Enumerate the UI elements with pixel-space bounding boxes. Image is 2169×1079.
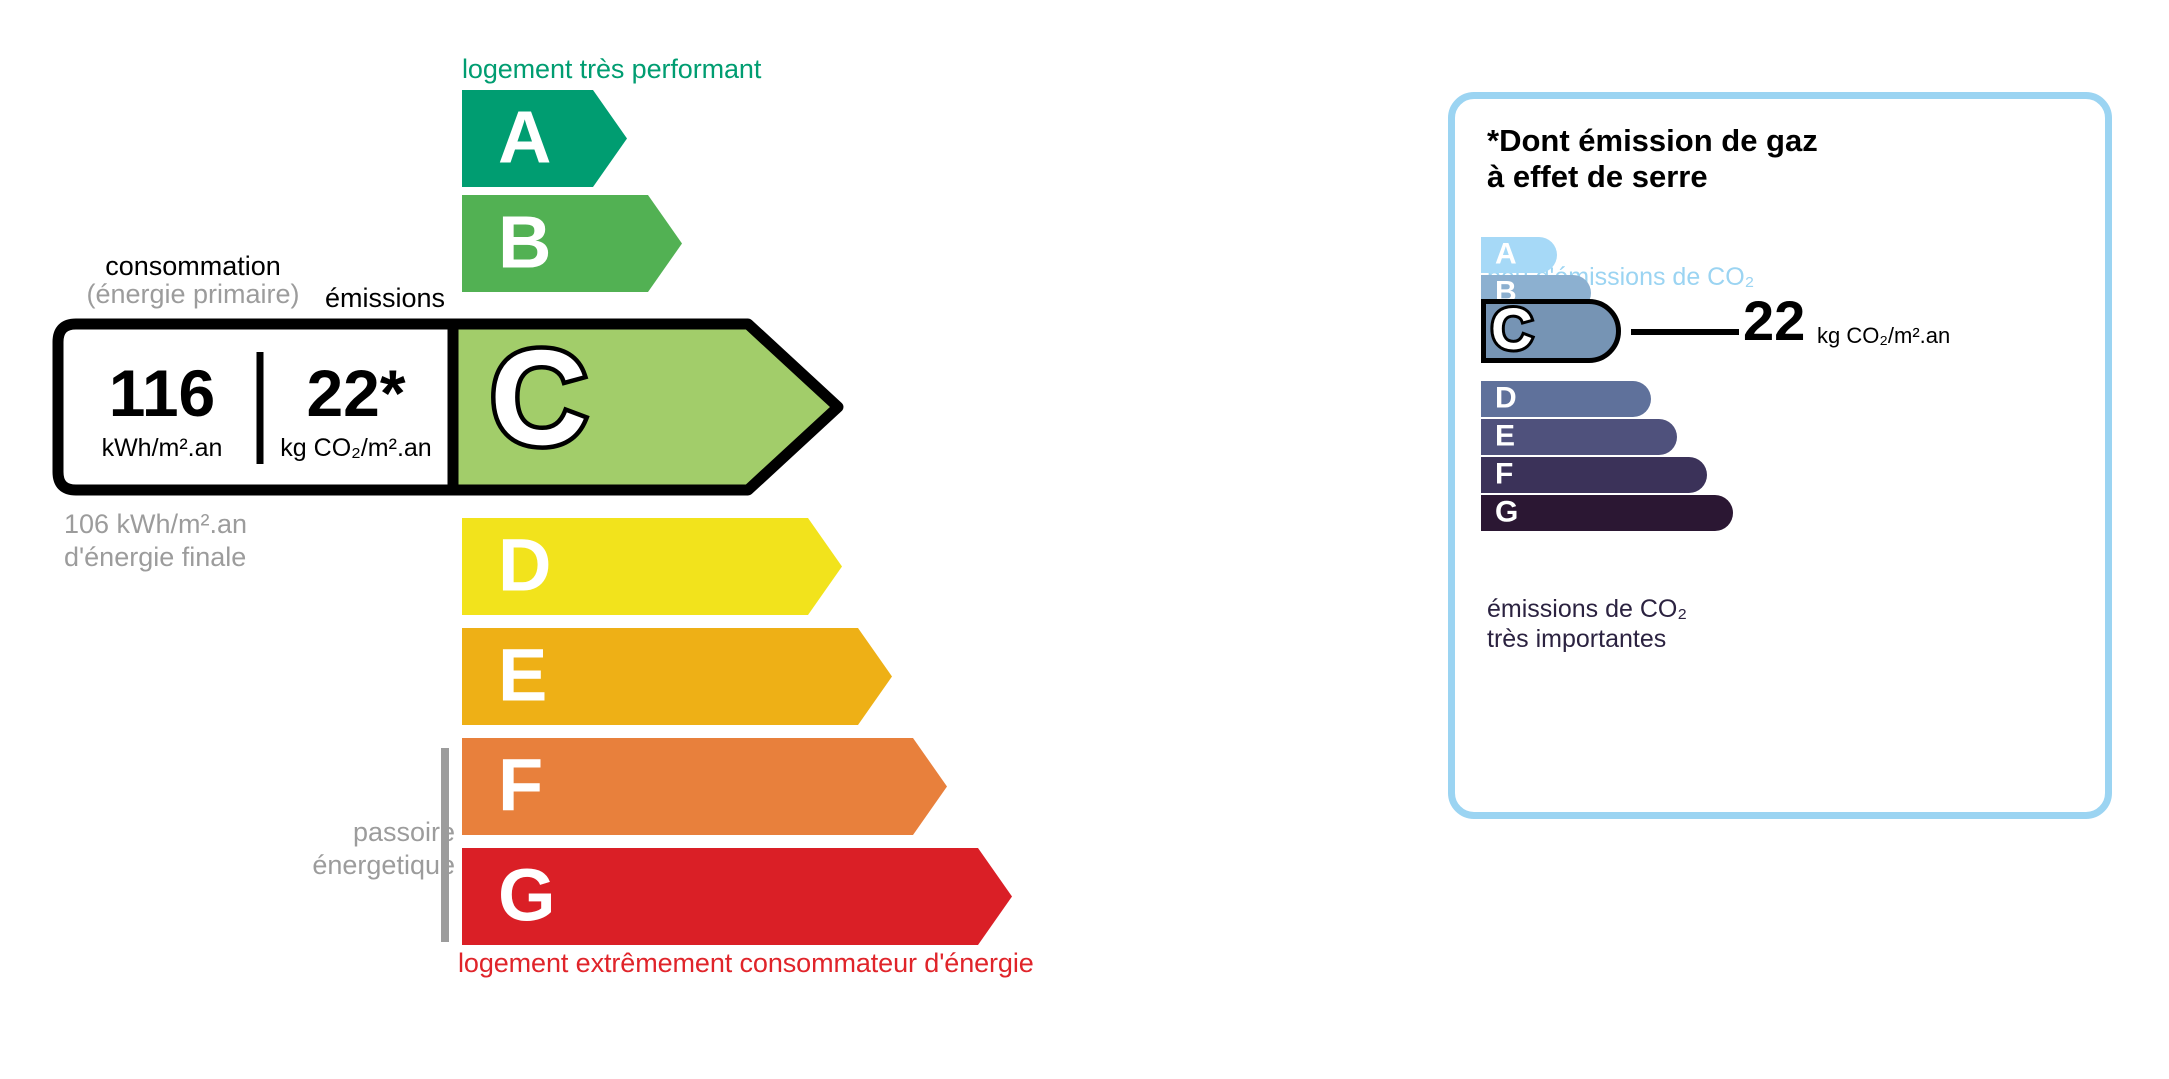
emissions-label: émissions bbox=[300, 283, 470, 314]
energy-band-e: E bbox=[462, 628, 892, 725]
co2-bar-f: F bbox=[1481, 457, 1707, 493]
chart-top-caption: logement très performant bbox=[462, 54, 761, 85]
co2-bar-g: G bbox=[1481, 495, 1733, 531]
primary-energy-value: 116 bbox=[76, 360, 248, 426]
consommation-label: consommation (énergie primaire) bbox=[70, 252, 316, 309]
emissions-value: 22* bbox=[270, 360, 442, 426]
co2-bottom-line1: émissions de CO₂ bbox=[1487, 595, 1687, 623]
band-d-letter: D bbox=[498, 528, 551, 602]
passoire-line1: passoire bbox=[353, 817, 455, 847]
co2-bar-e: E bbox=[1481, 419, 1677, 455]
co2-bar-f-letter: F bbox=[1495, 459, 1513, 489]
band-e-letter: E bbox=[498, 638, 547, 712]
consommation-label-sub: (énergie primaire) bbox=[70, 280, 316, 308]
co2-emissions-panel: *Dont émission de gaz à effet de serre p… bbox=[1448, 92, 2112, 819]
co2-bar-c-highlighted: C bbox=[1481, 299, 1621, 363]
current-rating-row: 116 kWh/m².an 22* kg CO₂/m².an bbox=[48, 318, 878, 496]
co2-bar-a-letter: A bbox=[1495, 239, 1517, 269]
current-class-letter: C bbox=[490, 330, 588, 465]
co2-bar-e-letter: E bbox=[1495, 421, 1515, 451]
co2-bar-c-letter: C bbox=[1491, 301, 1533, 359]
energy-band-b: B bbox=[462, 195, 682, 292]
co2-bar-g-letter: G bbox=[1495, 497, 1518, 527]
passoire-energetique-label: passoire énergetique bbox=[255, 816, 455, 882]
band-a-letter: A bbox=[498, 100, 551, 174]
energy-band-f: F bbox=[462, 738, 947, 835]
energie-finale-note: 106 kWh/m².an d'énergie finale bbox=[64, 508, 247, 574]
emissions-unit: kg CO₂/m².an bbox=[264, 436, 448, 461]
co2-title-line2: à effet de serre bbox=[1487, 159, 1708, 194]
co2-bar-a: A bbox=[1481, 237, 1557, 273]
co2-title-line1: *Dont émission de gaz bbox=[1487, 123, 1818, 158]
co2-bar-d-letter: D bbox=[1495, 383, 1517, 413]
co2-callout-line bbox=[1631, 329, 1739, 335]
band-b-letter: B bbox=[498, 205, 551, 279]
chart-bottom-caption: logement extrêmement consommateur d'éner… bbox=[458, 948, 1034, 979]
co2-panel-title: *Dont émission de gaz à effet de serre bbox=[1487, 123, 1818, 196]
consommation-label-main: consommation bbox=[105, 251, 281, 281]
energy-band-a: A bbox=[462, 90, 627, 187]
energie-finale-value: 106 kWh/m².an bbox=[64, 509, 247, 539]
co2-bottom-line2: très importantes bbox=[1487, 625, 1666, 653]
band-b-arrow bbox=[462, 195, 682, 292]
energy-band-d: D bbox=[462, 518, 842, 615]
co2-bar-d: D bbox=[1481, 381, 1651, 417]
energy-band-g: G bbox=[462, 848, 1012, 945]
band-g-letter: G bbox=[498, 858, 556, 932]
co2-bottom-caption: émissions de CO₂ très importantes bbox=[1487, 594, 1687, 654]
co2-callout-value: 22 bbox=[1743, 293, 1805, 349]
primary-energy-unit: kWh/m².an bbox=[76, 436, 248, 461]
energy-performance-chart: logement très performant A B 116 kWh/m².… bbox=[0, 0, 1400, 1079]
band-f-letter: F bbox=[498, 748, 543, 822]
passoire-line2: énergetique bbox=[312, 850, 455, 880]
co2-callout-unit: kg CO₂/m².an bbox=[1817, 325, 1950, 347]
energie-finale-text: d'énergie finale bbox=[64, 542, 246, 572]
